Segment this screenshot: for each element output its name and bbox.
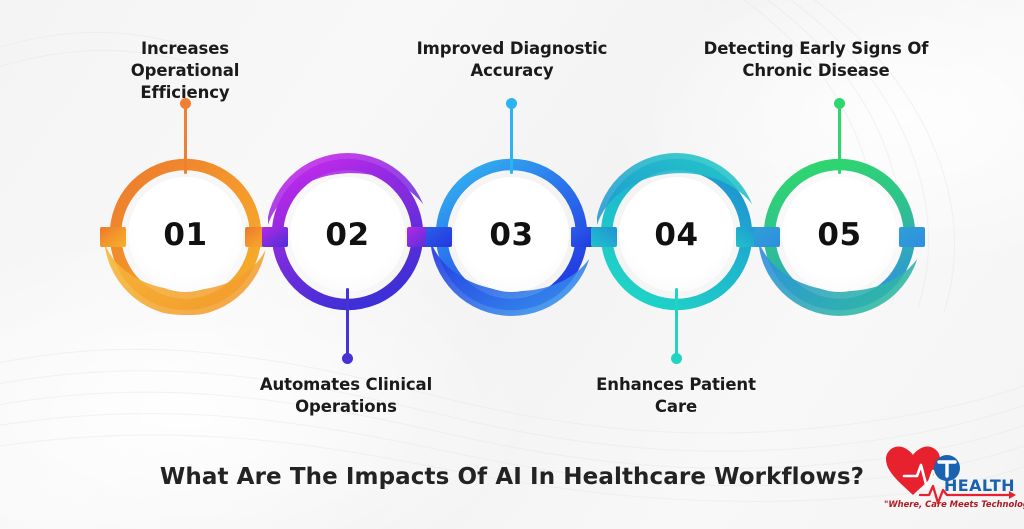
brand-wordmark: HEALTHRAY	[944, 476, 1016, 495]
step-label-4: Enhances Patient Care	[576, 374, 776, 418]
step-stem-line-1	[184, 98, 187, 174]
step-stem-5	[838, 98, 841, 174]
step-node-1[interactable]: 01	[104, 153, 267, 316]
brand-tagline: "Where, Care Meets Technology"	[884, 499, 1016, 509]
brand-logo[interactable]: HEALTHRAY "Where, Care Meets Technology"	[884, 443, 1016, 521]
step-stem-4	[675, 288, 678, 364]
step-label-1: Increases Operational Efficiency	[85, 38, 285, 103]
step-stem-3	[510, 98, 513, 174]
step-stem-dot-4	[671, 353, 682, 364]
step-stem-2	[346, 288, 349, 364]
infographic-canvas: 01 Increases Operational Efficiency	[0, 0, 1024, 529]
step-number-3: 03	[430, 153, 593, 316]
step-number-1: 01	[104, 153, 267, 316]
step-number-5: 05	[758, 153, 921, 316]
step-node-3[interactable]: 03	[430, 153, 593, 316]
step-stem-1	[184, 98, 187, 174]
healthray-logo-graphic: HEALTHRAY	[884, 443, 1016, 505]
step-label-5: Detecting Early Signs Of Chronic Disease	[700, 38, 932, 82]
step-stem-line-5	[838, 98, 841, 174]
step-label-3: Improved Diagnostic Accuracy	[412, 38, 612, 82]
step-node-5[interactable]: 05	[758, 153, 921, 316]
step-label-2: Automates Clinical Operations	[246, 374, 446, 418]
step-stem-dot-5	[834, 98, 845, 109]
step-stem-dot-2	[342, 353, 353, 364]
page-title: What Are The Impacts Of AI In Healthcare…	[0, 464, 1024, 490]
step-stem-dot-3	[506, 98, 517, 109]
step-stem-line-3	[510, 98, 513, 174]
